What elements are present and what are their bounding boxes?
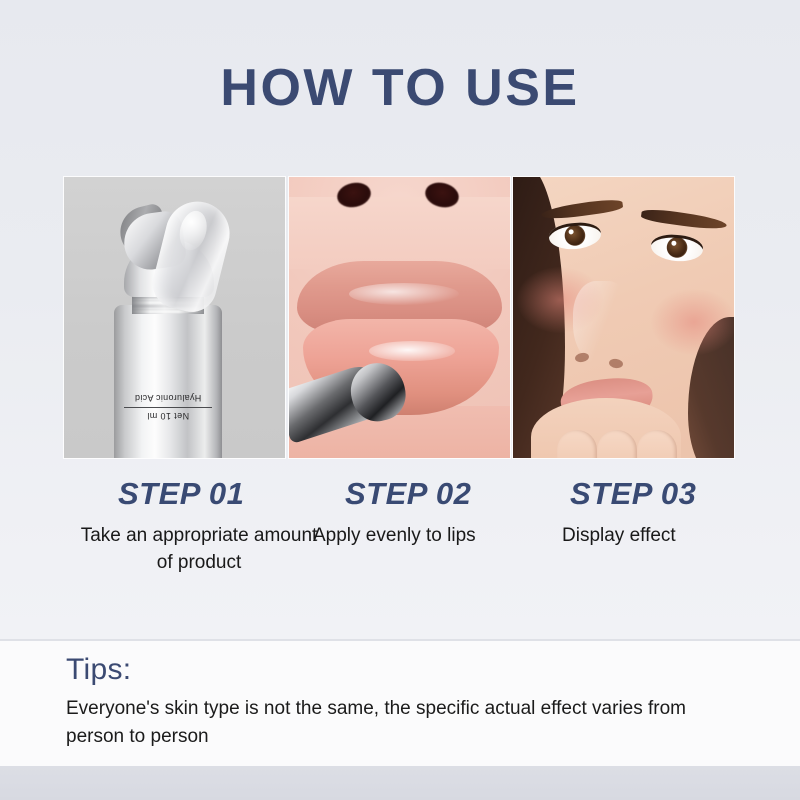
step-1-caption: STEP 01 Take an appropriate amount of pr… [118,478,328,577]
tips-heading: Tips: [66,653,131,687]
page-title: HOW TO USE [0,58,800,118]
step-3-description: Display effect [562,523,800,550]
step-1-description: Take an appropriate amount of product [74,523,324,577]
bottle-label: Net 10 ml Hyaluronic Acid [116,393,220,421]
step-2-image [289,177,510,458]
finger [597,430,637,458]
iris-left [564,225,585,246]
step-3-title: STEP 03 [570,478,780,509]
philtrum [289,197,510,269]
bottle-label-ingredient: Hyaluronic Acid [116,393,220,403]
bottle-label-divider [124,407,212,408]
step-2-description: Apply evenly to lips [313,523,563,550]
step-2-title: STEP 02 [345,478,555,509]
step-2-caption: STEP 02 Apply evenly to lips [345,478,555,550]
finger [557,430,597,458]
bottle-body [114,305,222,458]
iris-right [666,237,687,258]
step-1-title: STEP 01 [118,478,328,509]
tips-body-text: Everyone's skin type is not the same, th… [66,695,738,750]
finger [637,430,677,458]
step-3-caption: STEP 03 Display effect [570,478,780,550]
how-to-use-infographic: HOW TO USE Net 10 ml Hyaluronic Acid [0,0,800,800]
step-3-image [513,177,734,458]
bottle-label-net-volume: Net 10 ml [116,408,220,421]
cheek-right [651,289,734,355]
tips-panel: Tips: Everyone's skin type is not the sa… [0,641,800,766]
bottom-strip [0,766,800,800]
step-1-image: Net 10 ml Hyaluronic Acid [64,177,285,458]
